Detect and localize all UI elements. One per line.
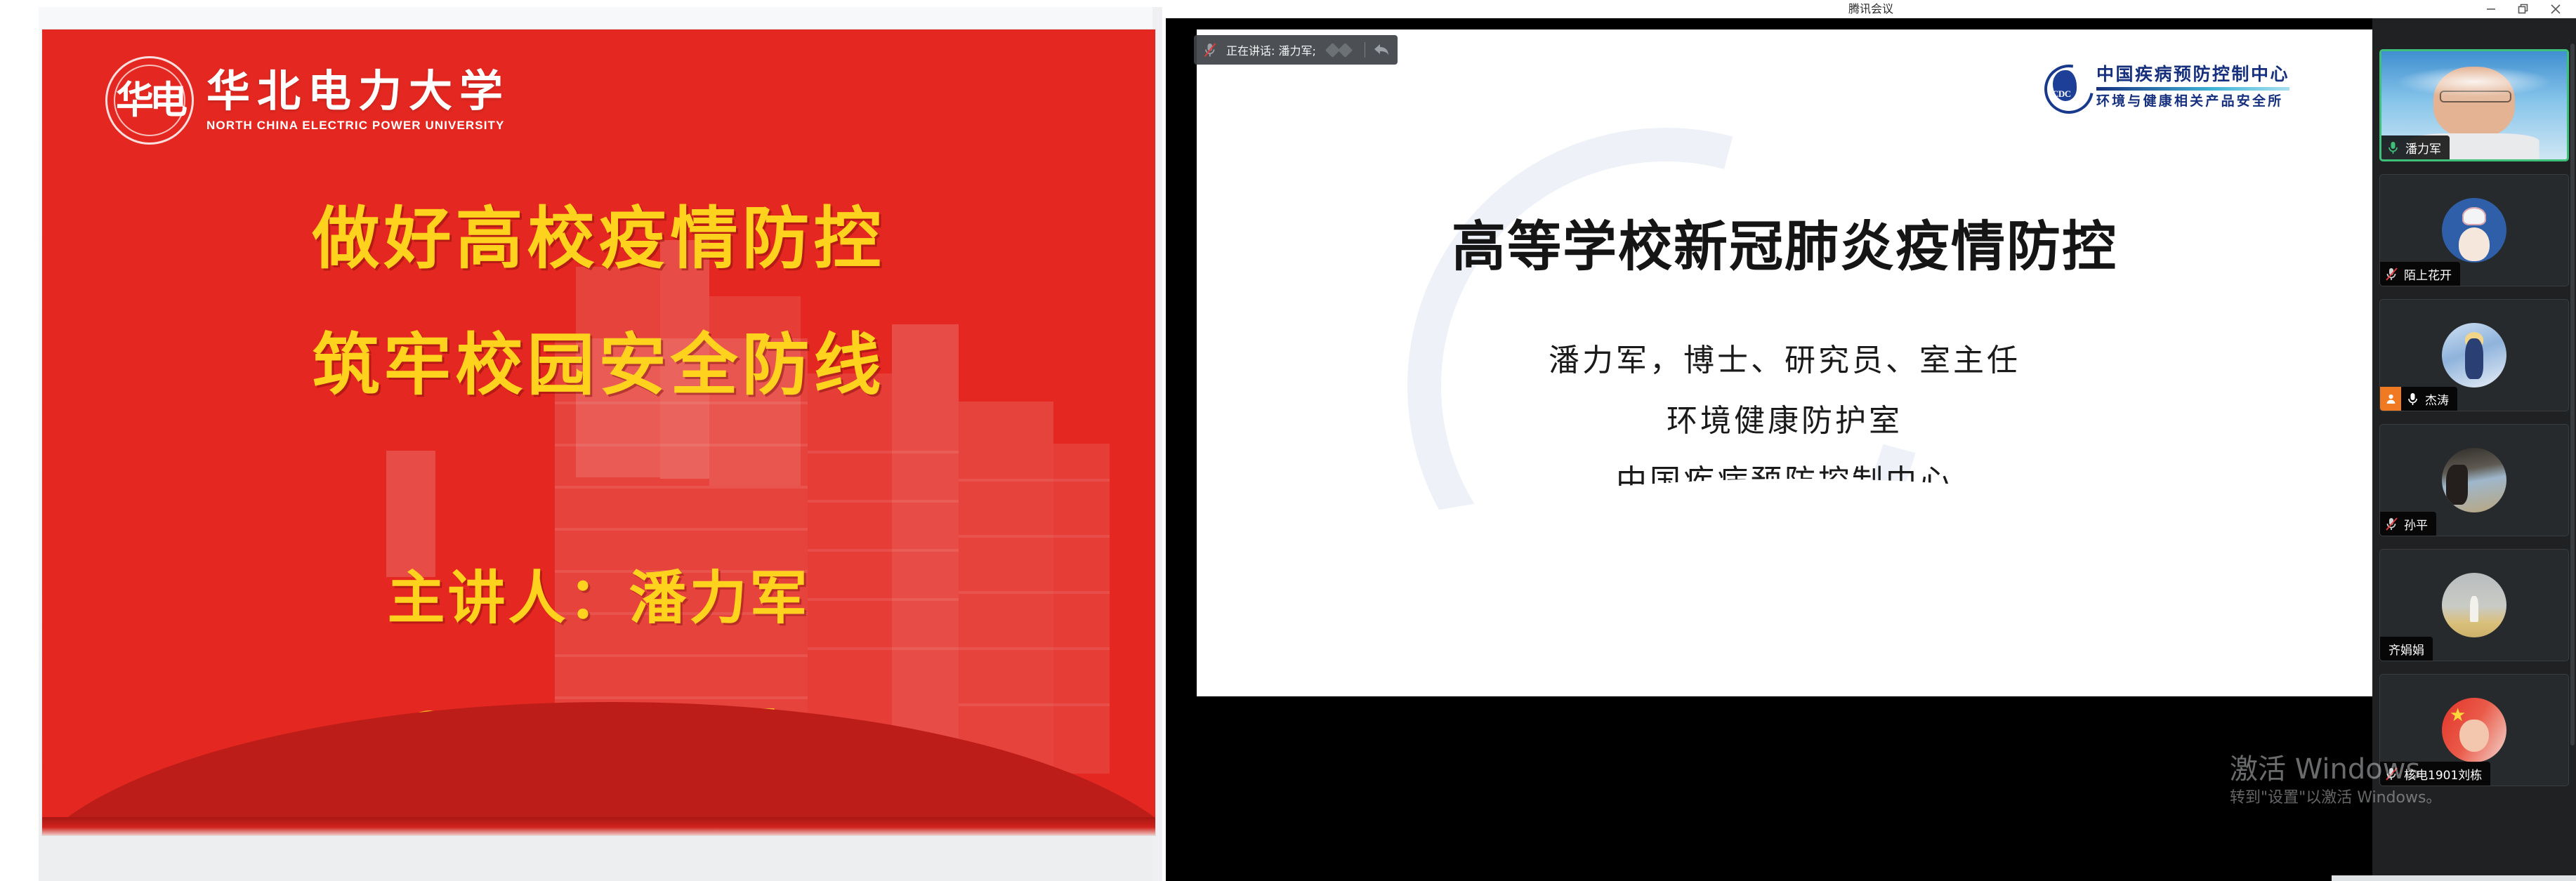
- participant-name: 杰涛: [2424, 390, 2449, 408]
- participant-avatar: [2442, 198, 2506, 263]
- ncepu-seal-text: 华电: [116, 81, 183, 119]
- participant-nameplate: 孙平: [2380, 512, 2436, 536]
- active-speaker-text: 正在讲话: 潘力军;: [1226, 41, 1316, 58]
- presentation-editor-window: 华电 华北电力大学 NORTH CHINA ELECTRIC POWER UNI…: [0, 0, 1166, 881]
- participant-tile[interactable]: 潘力军: [2379, 49, 2569, 161]
- participant-name: 陌上花开: [2403, 265, 2452, 283]
- mic-on-icon: [2381, 135, 2404, 159]
- mic-muted-icon: [1201, 41, 1219, 59]
- ncepu-seal-icon: 华电: [105, 56, 194, 145]
- tencent-meeting-window: 腾讯会议: [1166, 0, 2576, 881]
- participant-nameplate: 杰涛: [2380, 387, 2457, 411]
- ncepu-logo: 华电 华北电力大学 NORTH CHINA ELECTRIC POWER UNI…: [105, 56, 510, 145]
- participant-tile[interactable]: 核电1901刘栋: [2379, 674, 2569, 786]
- participant-nameplate: 核电1901刘栋: [2380, 762, 2490, 786]
- close-icon[interactable]: [2539, 0, 2572, 18]
- slide-headline-2: 筑牢校园安全防线: [42, 331, 1155, 399]
- screen: 华电 华北电力大学 NORTH CHINA ELECTRIC POWER UNI…: [0, 0, 2576, 881]
- participant-nameplate: 陌上花开: [2380, 262, 2460, 286]
- shared-slide-line: 潘力军，博士、研究员、室主任: [1197, 345, 2372, 376]
- speaking-rays-icon: [1327, 45, 1351, 55]
- mic-muted-icon: [2380, 512, 2403, 536]
- slide-speaker-line: 主讲人：潘力军: [42, 570, 1155, 628]
- red-title-slide[interactable]: 华电 华北电力大学 NORTH CHINA ELECTRIC POWER UNI…: [42, 29, 1155, 835]
- mic-on-icon: [2401, 387, 2424, 411]
- meeting-title-bar[interactable]: 腾讯会议: [1166, 0, 2576, 18]
- participant-avatar: [2442, 448, 2506, 512]
- mic-muted-icon: [2380, 262, 2403, 286]
- cdc-emblem-icon: CDC: [2044, 65, 2088, 108]
- participant-tile[interactable]: 杰涛: [2379, 299, 2569, 411]
- cdc-mark-text: CDC: [2052, 88, 2071, 100]
- participant-nameplate: 潘力军: [2381, 135, 2450, 159]
- participant-tile[interactable]: 孙平: [2379, 424, 2569, 536]
- cdc-divider: [2096, 87, 2289, 91]
- slide-headline-1: 做好高校疫情防控: [42, 205, 1155, 272]
- red-slide-bottom-bar: [42, 817, 1155, 835]
- restore-icon[interactable]: [2507, 0, 2539, 18]
- shared-screen-slide[interactable]: CDC 中国疾病预防控制中心 环境与健康相关产品安全所 高等学校新冠肺炎疫情防控…: [1197, 29, 2372, 696]
- china-cdc-logo: CDC 中国疾病预防控制中心 环境与健康相关产品安全所: [2044, 63, 2289, 110]
- cdc-wordmark: 中国疾病预防控制中心 环境与健康相关产品安全所: [2096, 63, 2289, 110]
- cdc-line-1: 中国疾病预防控制中心: [2096, 63, 2289, 85]
- shared-slide-title: 高等学校新冠肺炎疫情防控: [1197, 220, 2372, 274]
- participant-name: 核电1901刘栋: [2403, 765, 2482, 783]
- participant-avatar: [2442, 573, 2506, 637]
- participant-tile[interactable]: 齐娟娟: [2379, 549, 2569, 661]
- participant-name: 齐娟娟: [2387, 640, 2424, 658]
- participant-avatar: [2442, 698, 2506, 762]
- participant-name: 孙平: [2403, 515, 2428, 533]
- meeting-bottom-edge: [2332, 875, 2576, 881]
- ncepu-name-block: 华北电力大学 NORTH CHINA ELECTRIC POWER UNIVER…: [206, 69, 510, 131]
- minimize-icon[interactable]: [2475, 0, 2507, 18]
- participant-rail: 潘力军 陌上花开: [2372, 18, 2576, 881]
- meeting-stage: CDC 中国疾病预防控制中心 环境与健康相关产品安全所 高等学校新冠肺炎疫情防控…: [1166, 18, 2372, 881]
- participant-nameplate: 齐娟娟: [2380, 637, 2433, 661]
- participant-tile[interactable]: 陌上花开: [2379, 174, 2569, 286]
- cdc-line-2: 环境与健康相关产品安全所: [2096, 93, 2289, 110]
- active-speaker-banner: 正在讲话: 潘力军;: [1194, 35, 1398, 65]
- meeting-window-title: 腾讯会议: [1166, 0, 2576, 18]
- ncepu-name-en: NORTH CHINA ELECTRIC POWER UNIVERSITY: [206, 116, 510, 131]
- shared-slide-line: 环境健康防护室: [1197, 406, 2372, 437]
- participant-rail-scrollbar[interactable]: [2570, 44, 2575, 746]
- banner-divider: [1365, 42, 1365, 58]
- participant-avatar: [2442, 323, 2506, 387]
- window-controls: [2475, 0, 2572, 18]
- ncepu-name-cn: 华北电力大学: [206, 69, 510, 113]
- mic-muted-icon: [2380, 762, 2403, 786]
- back-arrow-icon[interactable]: [1372, 42, 1391, 58]
- host-badge-icon: [2380, 387, 2401, 411]
- slide-wave-decoration: [1197, 465, 2372, 696]
- participant-name: 潘力军: [2404, 139, 2441, 157]
